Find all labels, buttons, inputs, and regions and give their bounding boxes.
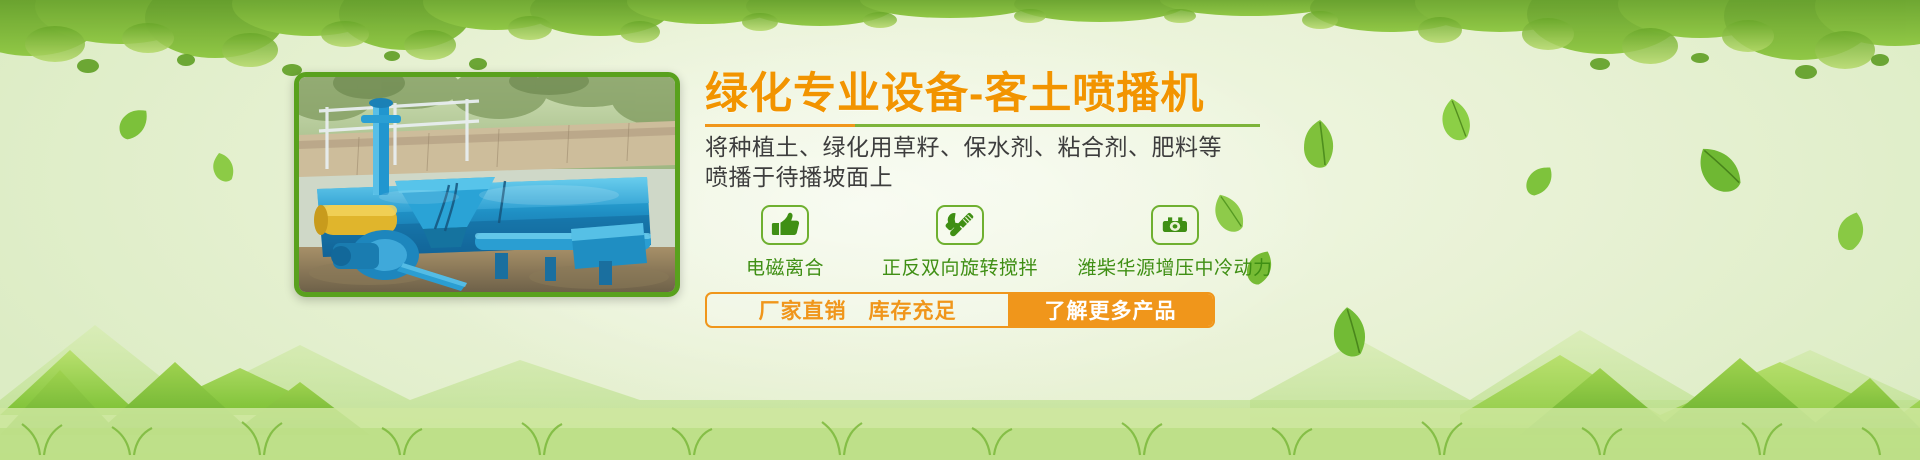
feature-icon-box [1151,205,1199,245]
subtitle-line-2: 喷播于待播坡面上 [705,163,1765,192]
subtitle-block: 将种植土、绿化用草籽、保水剂、粘合剂、肥料等 喷播于待播坡面上 [705,133,1765,192]
learn-more-button[interactable]: 了解更多产品 [1008,294,1213,326]
page-title: 绿化专业设备-客土喷播机 [705,72,1765,117]
banner-content: 绿化专业设备-客土喷播机 将种植土、绿化用草籽、保水剂、粘合剂、肥料等 喷播于待… [705,72,1765,328]
feature-label: 电磁离合 [705,253,865,280]
wrench-screwdriver-icon [945,211,975,239]
product-photo-frame[interactable] [294,72,680,297]
slogan-in-stock: 库存充足 [869,295,957,325]
title-divider [705,124,1260,127]
feature-item-electromagnetic-clutch[interactable]: 电磁离合 [705,205,865,280]
promo-banner: 绿化专业设备-客土喷播机 将种植土、绿化用草籽、保水剂、粘合剂、肥料等 喷播于待… [0,0,1920,460]
engine-gear-icon [1160,212,1190,238]
feature-label: 潍柴华源增压中冷动力 [1055,253,1295,280]
feature-icon-box [936,205,984,245]
action-bar: 厂家直销 库存充足 了解更多产品 [705,292,1215,328]
slogan-direct-sale: 厂家直销 [759,295,847,325]
product-photo [299,77,675,292]
feature-list: 电磁离合 [705,205,1765,280]
feature-item-weichai-power[interactable]: 潍柴华源增压中冷动力 [1055,205,1295,280]
floating-leaf-icon [1830,207,1873,262]
floating-leaf-icon [107,100,159,154]
subtitle-line-1: 将种植土、绿化用草籽、保水剂、粘合剂、肥料等 [705,133,1765,162]
slogan-group: 厂家直销 库存充足 [707,294,1008,326]
feature-item-bidirectional-mixing[interactable]: 正反双向旋转搅拌 [865,205,1055,280]
feature-label: 正反双向旋转搅拌 [865,253,1055,280]
thumbs-up-icon [770,212,800,238]
feature-icon-box [761,205,809,245]
floating-leaf-icon [206,147,244,193]
